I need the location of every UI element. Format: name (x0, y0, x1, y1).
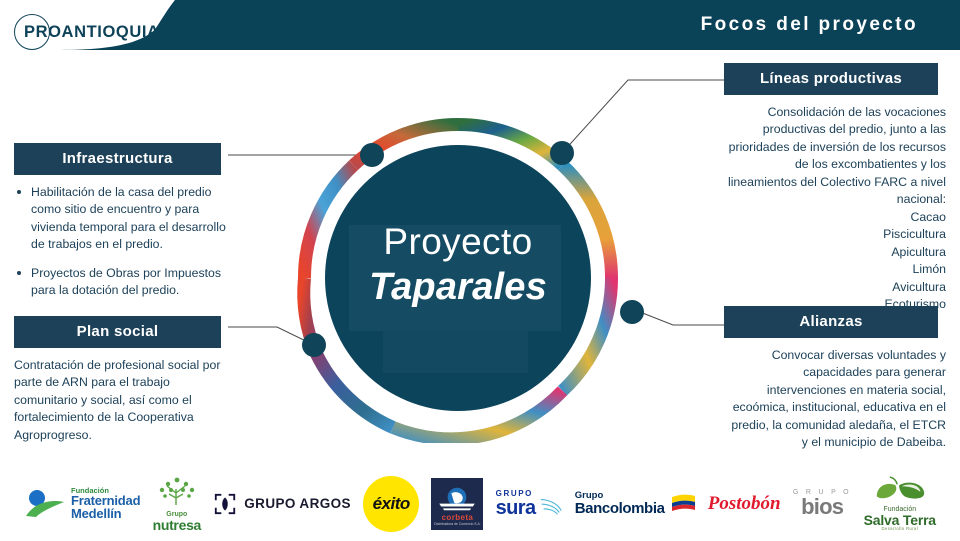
center-ring: Proyecto Taparales (293, 113, 623, 443)
panel-alianzas-body: Convocar diversas voluntades y capacidad… (724, 338, 946, 452)
panel-plan-social: Plan social Contratación de profesional … (14, 316, 236, 444)
sponsor-logo-strip: Fundación Fraternidad Medellín Grup (0, 466, 960, 541)
logo-exito: éxito (363, 475, 419, 533)
exito-circle-icon: éxito (363, 476, 419, 532)
logo-line: sura (496, 498, 536, 518)
logo-line: corbeta (442, 513, 474, 522)
logo-grupo-nutresa: Grupo nutresa (153, 475, 201, 533)
salva-terra-leaf-icon (871, 476, 929, 502)
panel-plan-social-body: Contratación de profesional social por p… (14, 348, 236, 444)
center-line-2: Taparales (293, 268, 623, 306)
page-title: Focos del proyecto (701, 14, 918, 36)
logo-postobon: Postobón (708, 475, 781, 533)
brand-name: PROANTIOQUIA (24, 14, 160, 50)
node-plan-social[interactable] (302, 333, 326, 357)
logo-line: GRUPO ARGOS (244, 496, 351, 511)
argos-bracket-icon (213, 492, 237, 516)
logo-line: Medellín (71, 507, 140, 520)
nutresa-tree-icon (154, 475, 200, 507)
panel-lineas-productivas-body: Consolidación de las vocaciones producti… (724, 95, 946, 313)
panel-alianzas-title: Alianzas (724, 306, 938, 338)
center-line-1: Proyecto (293, 223, 623, 260)
lineas-productivas-list: Cacao Piscicultura Apicultura Limón Avic… (724, 209, 946, 314)
node-alianzas[interactable] (620, 300, 644, 324)
logo-corbeta: corbeta Distribuidora de Comercio S.A. (431, 475, 483, 533)
panel-infraestructura-title: Infraestructura (14, 143, 221, 175)
list-item: Limón (724, 261, 946, 278)
list-item: Avicultura (724, 279, 946, 296)
logo-line: Salva Terra (864, 513, 936, 527)
list-item: Piscicultura (724, 226, 946, 243)
center-plate-lower (383, 331, 528, 373)
center-label: Proyecto Taparales (293, 223, 623, 306)
logo-line: bios (793, 496, 852, 518)
node-infraestructura[interactable] (360, 143, 384, 167)
panel-lineas-productivas-text: Consolidación de las vocaciones producti… (724, 104, 946, 209)
logo-line: éxito (373, 494, 410, 514)
logo-line: nutresa (153, 518, 201, 532)
list-item: Cacao (724, 209, 946, 226)
list-item: Apicultura (724, 244, 946, 261)
panel-lineas-productivas: Líneas productivas Consolidación de las … (724, 63, 946, 313)
logo-grupo-argos: GRUPO ARGOS (213, 475, 351, 533)
panel-infraestructura-body: Habilitación de la casa del predio como … (14, 175, 236, 300)
panel-infraestructura: Infraestructura Habilitación de la casa … (14, 143, 236, 311)
node-lineas-productivas[interactable] (550, 141, 574, 165)
list-item: Habilitación de la casa del predio como … (14, 184, 236, 254)
logo-grupo-bancolombia: Grupo Bancolombia (575, 475, 696, 533)
sura-wing-icon (539, 494, 563, 518)
panel-alianzas: Alianzas Convocar diversas voluntades y … (724, 306, 946, 452)
logo-grupo-bios: G R U P O bios (793, 475, 852, 533)
corbeta-badge-icon: corbeta Distribuidora de Comercio S.A. (431, 478, 483, 530)
infographic-canvas: PROANTIOQUIA Focos del proyecto (0, 0, 960, 541)
logo-grupo-sura: GRUPO sura (496, 475, 563, 533)
logo-line: Bancolombia (575, 501, 665, 516)
logo-line: Distribuidora de Comercio S.A. (434, 522, 481, 526)
panel-plan-social-title: Plan social (14, 316, 221, 348)
list-item: Proyectos de Obras por Impuestos para la… (14, 265, 236, 300)
panel-lineas-productivas-title: Líneas productivas (724, 63, 938, 95)
bancolombia-flag-icon (670, 493, 696, 515)
fraternidad-medellin-icon (24, 489, 66, 519)
logo-fundacion-salva-terra: Fundación Salva Terra Desarrollo Rural (864, 475, 936, 533)
brand-logo: PROANTIOQUIA (14, 14, 160, 50)
logo-line: Postobón (708, 493, 781, 514)
logo-fraternidad-medellin: Fundación Fraternidad Medellín (24, 475, 140, 533)
